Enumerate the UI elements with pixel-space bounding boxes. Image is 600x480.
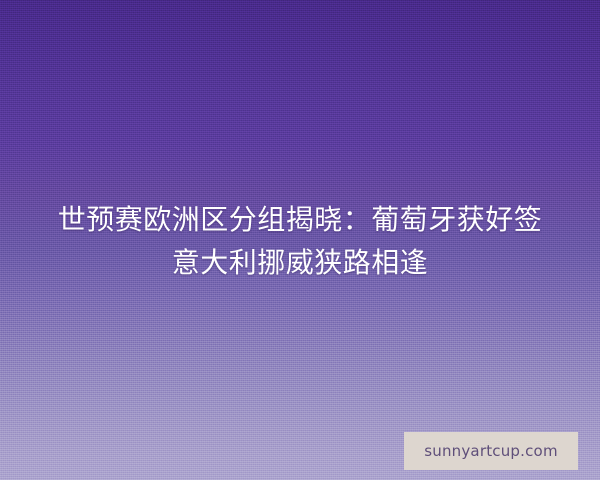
watermark-plate: sunnyartcup.com <box>404 432 578 470</box>
image-canvas: 世预赛欧洲区分组揭晓：葡萄牙获好签 意大利挪威狭路相逢 sunnyartcup.… <box>0 0 600 480</box>
watermark-label: sunnyartcup.com <box>424 442 558 460</box>
headline-text-block: 世预赛欧洲区分组揭晓：葡萄牙获好签 意大利挪威狭路相逢 <box>0 198 600 284</box>
headline-line-2: 意大利挪威狭路相逢 <box>0 241 600 284</box>
headline-line-1: 世预赛欧洲区分组揭晓：葡萄牙获好签 <box>0 198 600 241</box>
